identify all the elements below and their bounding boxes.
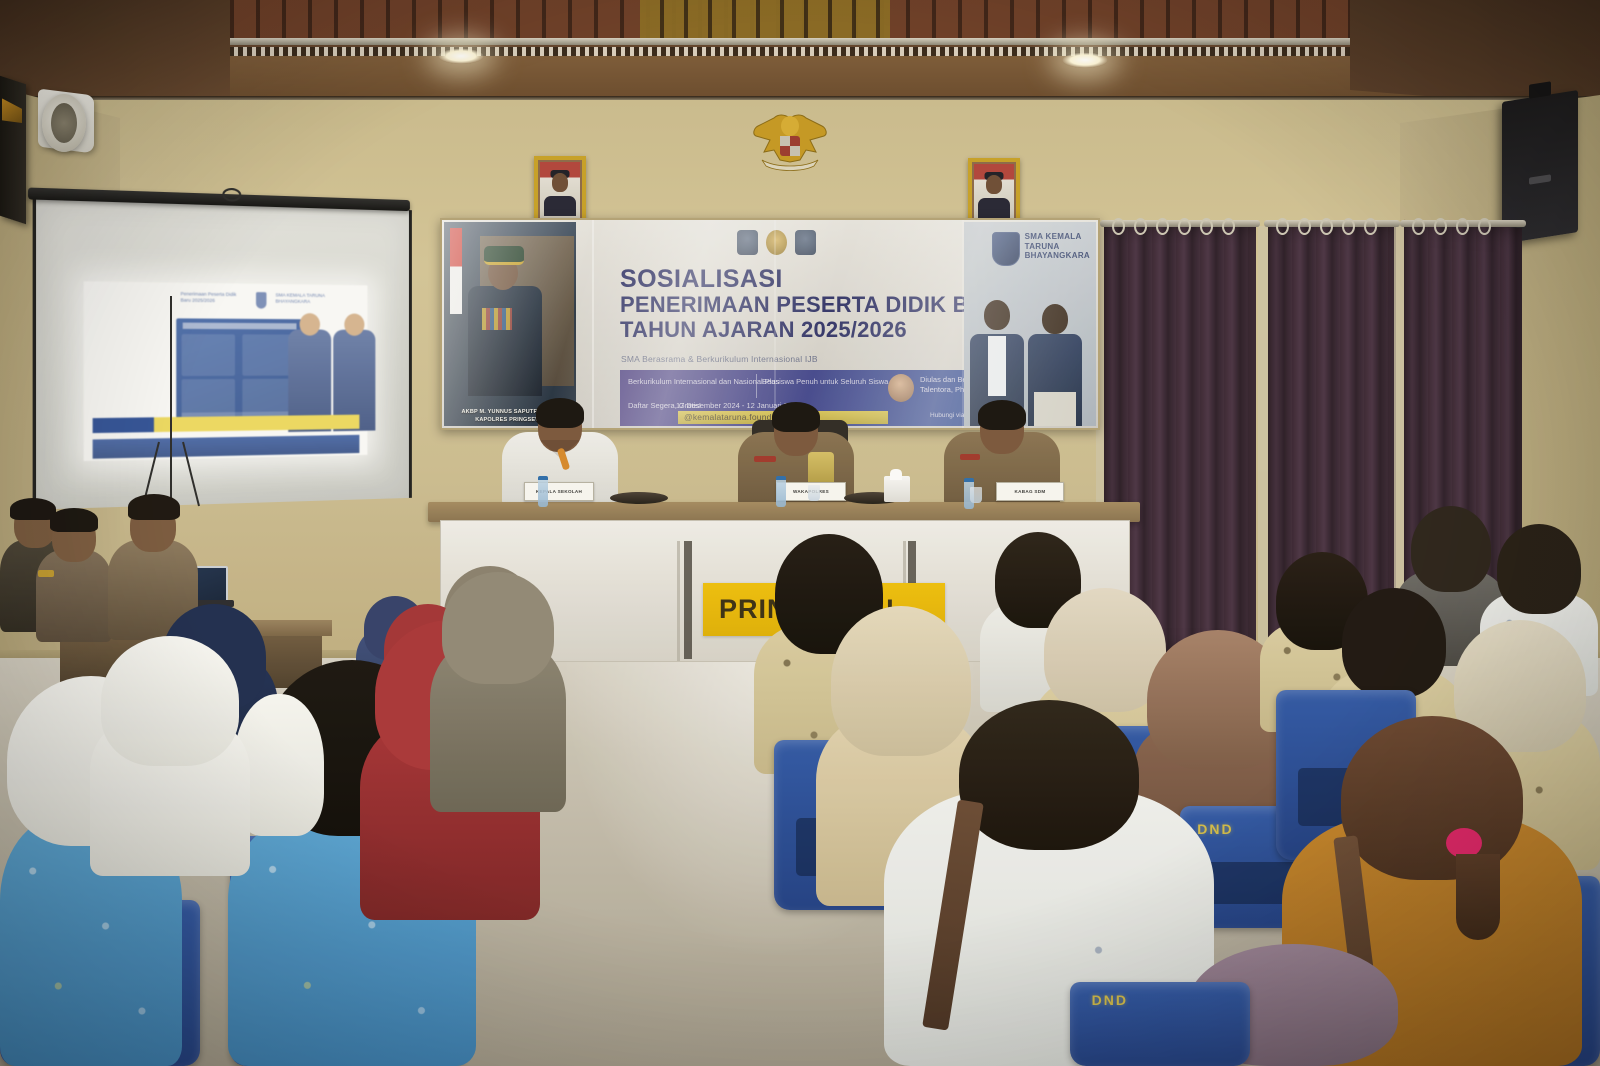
ceiling-downlight [438,48,484,64]
chair: DND [1070,982,1250,1066]
slide-header-text: Penerimaan Peserta Didik Baru 2025/2026 [181,291,247,304]
drinking-glass-icon [808,485,820,501]
ponytail [1456,854,1500,940]
drinking-glass-icon [970,487,982,503]
school-name-line-3: BHAYANGKARA [1025,251,1090,261]
polri-logo-icon [737,230,758,255]
vice-president-portrait [968,158,1020,226]
projector-screen-tripod [170,296,172,506]
officer-seated [36,512,112,642]
water-bottle-icon [776,476,786,507]
projector-screen-hook-icon [222,188,241,202]
chair-stencil-label: DND [1092,992,1128,1008]
slide-footer-bar [93,435,360,459]
attendee [430,572,566,812]
foundation-logo-icon [766,230,787,255]
president-portrait [534,156,586,224]
serving-tray-icon [610,492,668,504]
garuda-emblem-icon [744,110,836,172]
slide-header: Penerimaan Peserta Didik Baru 2025/2026 … [181,291,338,309]
ceiling-downlight [1062,52,1108,68]
slide-school-text: SMA KEMALA TARUNA BHAYANGKARA [276,292,338,305]
wall-speaker-icon [0,76,26,224]
banner-title-block: SOSIALISASI PENERIMAAN PESERTA DIDIK BAR… [620,266,1017,342]
ceiling-tile-strip-gold [640,0,890,38]
banner-school-identity: SMA KEMALA TARUNA BHAYANGKARA [992,232,1090,266]
nameplate-kepala-sekolah: KEPALA SEKOLAH [524,482,594,501]
projected-slide: Penerimaan Peserta Didik Baru 2025/2026 … [84,281,368,461]
school-shield-icon [992,232,1020,266]
projector-screen: Penerimaan Peserta Didik Baru 2025/2026 … [33,188,406,519]
school-name-line-2: TARUNA [1025,242,1090,252]
nameplate-kabag-sdm: KABAG SDM [996,482,1064,501]
attendee [90,636,250,876]
conference-room-photo: AKBP M. YUNNUS SAPUTRA, S.IK. KAPOLRES P… [0,0,1600,1066]
school-logo-icon [795,230,816,255]
banner-line-2: TAHUN AJARAN 2025/2026 [620,317,1017,342]
school-name-line-1: SMA KEMALA [1025,232,1090,242]
banner-subtitle: SMA Berasrama & Berkurikulum Internasion… [621,354,818,364]
banner-eyebrow: SOSIALISASI [620,266,1017,292]
banner-feature-2: Beasiswa Penuh untuk Seluruh Siswa [762,377,888,387]
projector-screen-surface: Penerimaan Peserta Didik Baru 2025/2026 … [33,198,412,509]
banner-institution-logos [737,230,816,255]
tissue-box-icon [884,476,910,502]
banner-speaker-avatar [888,374,914,402]
wall-clock-icon [42,94,86,152]
banner-line-1: PENERIMAAN PESERTA DIDIK BARU [620,292,1017,317]
water-bottle-icon [538,476,548,507]
slide-school-logo-icon [256,292,266,309]
